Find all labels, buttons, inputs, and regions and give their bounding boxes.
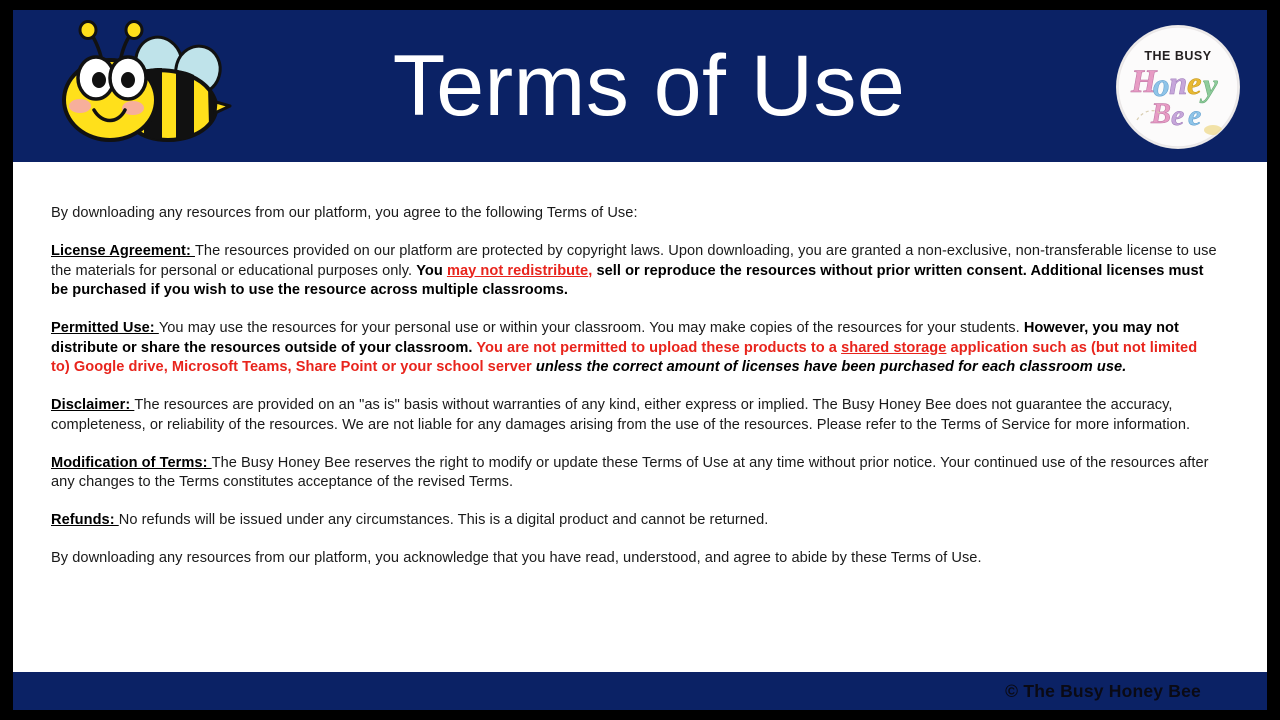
terms-body: By downloading any resources from our pl… xyxy=(13,162,1267,672)
permitted-bold-italic: unless the correct amount of licenses ha… xyxy=(536,359,1126,375)
closing-paragraph: By downloading any resources from our pl… xyxy=(51,549,1219,569)
license-agreement-paragraph: License Agreement: The resources provide… xyxy=(51,242,1219,301)
refunds-paragraph: Refunds: No refunds will be issued under… xyxy=(51,511,1219,531)
footer-banner: © The Busy Honey Bee xyxy=(13,672,1267,710)
license-bold-you: You xyxy=(416,263,447,279)
honey-bee-logo-icon: THE BUSY H o n e y B e e xyxy=(1117,26,1239,148)
svg-text:e: e xyxy=(1171,99,1184,132)
svg-text:B: B xyxy=(1150,97,1171,130)
disclaimer-heading: Disclaimer: xyxy=(51,397,134,413)
disclaimer-paragraph: Disclaimer: The resources are provided o… xyxy=(51,396,1219,435)
license-heading: License Agreement: xyxy=(51,243,195,259)
bee-mascot-icon xyxy=(58,18,238,158)
header-banner: Terms of Use THE BUSY H o n e y B e e xyxy=(13,10,1267,162)
svg-text:THE BUSY: THE BUSY xyxy=(1144,49,1211,63)
svg-text:n: n xyxy=(1169,66,1187,102)
copyright-notice: © The Busy Honey Bee xyxy=(1005,681,1201,702)
modification-heading: Modification of Terms: xyxy=(51,455,212,471)
permitted-text: You may use the resources for your perso… xyxy=(159,320,1024,336)
svg-text:e: e xyxy=(1188,99,1201,132)
closing-text: By downloading any resources from our pl… xyxy=(51,550,982,566)
disclaimer-text: The resources are provided on an "as is"… xyxy=(51,397,1190,433)
license-red-underline: may not redistribute xyxy=(447,263,588,279)
intro-paragraph: By downloading any resources from our pl… xyxy=(51,204,1219,224)
permitted-red-1: You are not permitted to upload these pr… xyxy=(476,340,841,356)
permitted-heading: Permitted Use: xyxy=(51,320,159,336)
svg-text:e: e xyxy=(1187,66,1202,102)
refunds-heading: Refunds: xyxy=(51,512,119,528)
permitted-red-underline: shared storage xyxy=(841,340,946,356)
slide-canvas: Terms of Use THE BUSY H o n e y B e e xyxy=(0,0,1280,720)
permitted-use-paragraph: Permitted Use: You may use the resources… xyxy=(51,319,1219,378)
refunds-text: No refunds will be issued under any circ… xyxy=(119,512,769,528)
intro-text: By downloading any resources from our pl… xyxy=(51,205,638,221)
modification-text: The Busy Honey Bee reserves the right to… xyxy=(51,455,1209,491)
modification-paragraph: Modification of Terms: The Busy Honey Be… xyxy=(51,454,1219,493)
